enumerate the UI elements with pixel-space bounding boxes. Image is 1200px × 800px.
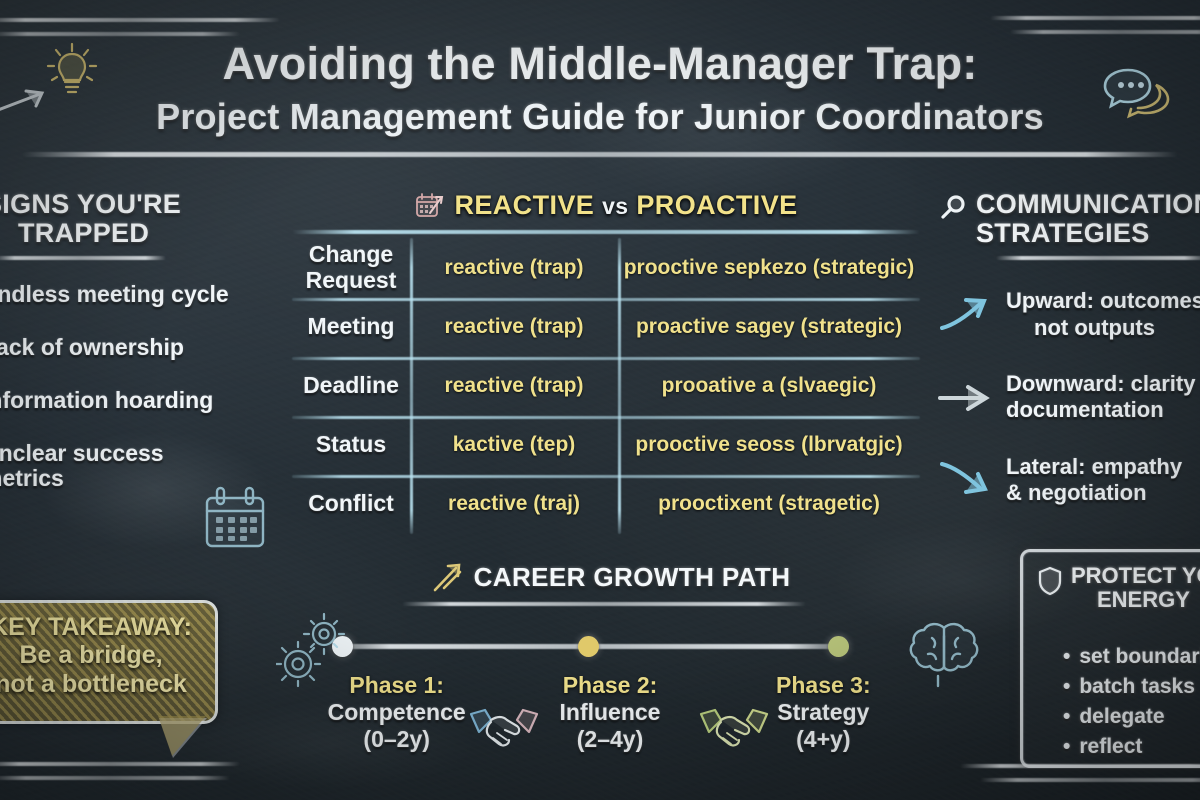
chalkboard-infographic: Avoiding the Middle-Manager Trap: Projec…: [0, 0, 1200, 800]
table-row: Meeting reactive (trap) proactive sagey …: [292, 297, 920, 356]
career-phase: Phase 2: Influence (2–4y): [503, 672, 716, 753]
speech-bubble-tail: [158, 716, 206, 756]
career-underline: [402, 602, 806, 606]
phase-years: (0–2y): [290, 726, 503, 753]
table-row: Deadline reactive (trap) prooative a (sl…: [292, 356, 920, 415]
text-line-1: Downward: clarity: [1006, 371, 1195, 396]
career-phase: Phase 1: Competence (0–2y): [290, 672, 503, 753]
center-heading: REACTIVE vs PROACTIVE: [454, 190, 797, 221]
career-timeline: [290, 634, 930, 658]
text-line-2: documentation: [1006, 397, 1195, 423]
phase-name: Influence: [503, 699, 716, 726]
title-underline: [22, 152, 1178, 157]
table-cell-label: Status: [292, 432, 410, 457]
comparison-table: Change Request reactive (trap) prooctive…: [292, 238, 920, 533]
arrow-up-right-icon: [938, 290, 996, 332]
growth-arrow-icon: [430, 560, 464, 594]
phase-name: Strategy: [717, 699, 930, 726]
phase-label: Phase 1:: [290, 672, 503, 699]
table-cell-proactive: prooative a (slvaegic): [618, 374, 920, 398]
heading-reactive: REACTIVE: [454, 190, 594, 220]
reactive-vs-proactive-section: REACTIVE vs PROACTIVE Change Request rea…: [292, 190, 920, 533]
signs-underline: [0, 256, 166, 260]
phase-years: (4+y): [717, 726, 930, 753]
text-line-2: not outputs: [1006, 315, 1200, 341]
table-cell-label: Deadline: [292, 373, 410, 398]
list-item: set boundaries: [1063, 642, 1200, 672]
frame-stroke: [0, 762, 240, 766]
key-takeaway-label: KEY TAKEAWAY:: [0, 613, 203, 641]
protect-energy-box: PROTECT YOUR ENERGY set boundaries batch…: [1020, 549, 1200, 768]
protect-energy-list: set boundaries batch tasks delegate refl…: [1023, 628, 1200, 761]
signs-heading-line-1: SIGNS YOU'RE: [0, 190, 282, 219]
communication-section: COMMUNICATION STRATEGIES Upward: outcome…: [938, 190, 1200, 507]
communication-item: Upward: outcomes not outputs: [938, 288, 1200, 341]
list-item: batch tasks: [1063, 672, 1200, 702]
list-item: Information hoarding: [0, 388, 282, 414]
label-line-1: Change: [292, 242, 410, 267]
frame-stroke: [980, 778, 1200, 782]
frame-stroke: [0, 776, 230, 780]
page-title: Avoiding the Middle-Manager Trap: Projec…: [0, 38, 1200, 138]
heading-vs: vs: [602, 193, 628, 219]
table-cell-label: Change Request: [292, 242, 410, 293]
career-phases: Phase 1: Competence (0–2y) Phase 2: Infl…: [290, 672, 930, 753]
list-item: reflect: [1063, 732, 1200, 762]
table-row: Status kactive (tep) prooctive seoss (lb…: [292, 415, 920, 474]
key-takeaway-bubble: KEY TAKEAWAY: Be a bridge, not a bottlen…: [0, 600, 218, 724]
table-row: Conflict reactive (traj) prooctixent (st…: [292, 474, 920, 533]
arrow-down-right-icon: [938, 456, 996, 502]
phase-label: Phase 2:: [503, 672, 716, 699]
timeline-node-phase-2: [578, 636, 599, 657]
key-takeaway-line-2: not a bottleneck: [0, 670, 203, 699]
magnifier-icon: [938, 193, 968, 223]
frame-stroke: [1010, 30, 1200, 34]
frame-stroke: [0, 18, 280, 22]
key-takeaway-line-1: Be a bridge,: [0, 641, 203, 670]
communication-underline: [996, 256, 1200, 260]
timeline-node-phase-3: [828, 636, 849, 657]
communication-item: Downward: clarity documentation: [938, 371, 1200, 424]
career-growth-section: CAREER GROWTH PATH Phase 1: Competence (…: [290, 560, 930, 753]
phase-years: (2–4y): [503, 726, 716, 753]
table-cell-reactive: reactive (traj): [410, 492, 618, 516]
phase-name: Competence: [290, 699, 503, 726]
label-line-2: Request: [292, 268, 410, 293]
table-cell-reactive: reactive (trap): [410, 256, 618, 280]
table-row: Change Request reactive (trap) prooctive…: [292, 238, 920, 297]
signs-heading-line-2: TRAPPED: [0, 219, 282, 248]
title-line-1: Avoiding the Middle-Manager Trap:: [0, 38, 1200, 90]
table-cell-label: Conflict: [292, 491, 410, 516]
list-item: Unclear success metrics: [0, 441, 178, 493]
table-cell-label: Meeting: [292, 314, 410, 339]
career-phase: Phase 3: Strategy (4+y): [717, 672, 930, 753]
table-cell-reactive: kactive (tep): [410, 433, 618, 457]
table-cell-reactive: reactive (trap): [410, 374, 618, 398]
communication-heading-line-1: COMMUNICATION: [976, 190, 1200, 219]
signs-list: Endless meeting cycle Lack of ownership …: [0, 282, 282, 492]
arrow-right-icon: [938, 377, 996, 419]
table-cell-proactive: proactive sagey (strategic): [618, 315, 920, 339]
text-line-2: & negotiation: [1006, 480, 1182, 506]
signs-section: SIGNS YOU'RE TRAPPED Endless meeting cyc…: [0, 190, 282, 519]
frame-stroke: [990, 16, 1200, 20]
communication-item-text: Lateral: empathy & negotiation: [1006, 454, 1182, 507]
communication-item-text: Upward: outcomes not outputs: [1006, 288, 1200, 341]
career-heading: CAREER GROWTH PATH: [474, 562, 791, 593]
heading-proactive: PROACTIVE: [636, 190, 797, 220]
frame-stroke: [0, 32, 240, 36]
title-line-1: PROTECT YOUR: [1071, 563, 1200, 588]
timeline-node-phase-1: [332, 636, 353, 657]
list-item: delegate: [1063, 702, 1200, 732]
title-line-2: ENERGY: [1071, 588, 1200, 612]
communication-item-text: Downward: clarity documentation: [1006, 371, 1195, 424]
shield-icon: [1037, 566, 1063, 596]
title-line-2: Project Management Guide for Junior Coor…: [0, 96, 1200, 138]
text-line-1: Lateral: empathy: [1006, 454, 1182, 479]
list-item: Lack of ownership: [0, 335, 282, 361]
communication-heading-line-2: STRATEGIES: [976, 219, 1200, 248]
table-cell-proactive: prooctive seoss (lbrvatgjc): [618, 433, 920, 457]
calendar-check-icon: [414, 191, 444, 221]
list-item: Endless meeting cycle: [0, 282, 282, 308]
communication-item: Lateral: empathy & negotiation: [938, 454, 1200, 507]
center-underline: [292, 230, 920, 234]
text-line-1: Upward: outcomes: [1006, 288, 1200, 313]
table-cell-proactive: prooctive sepkezo (strategic): [618, 256, 920, 280]
table-cell-proactive: prooctixent (stragetic): [618, 492, 920, 516]
protect-energy-title: PROTECT YOUR ENERGY: [1071, 564, 1200, 612]
phase-label: Phase 3:: [717, 672, 930, 699]
table-cell-reactive: reactive (trap): [410, 315, 618, 339]
